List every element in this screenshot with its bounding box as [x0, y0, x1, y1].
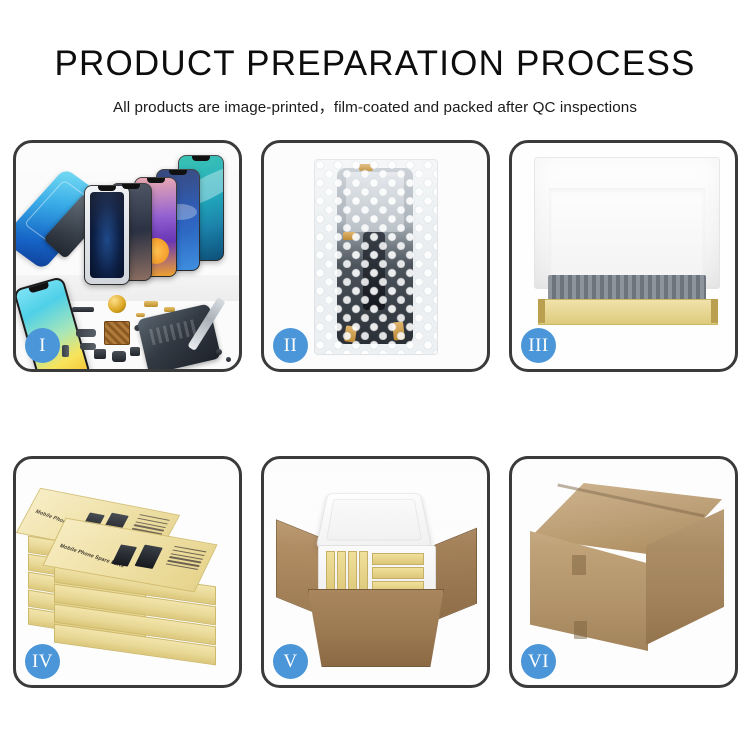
- notch-icon: [147, 178, 165, 183]
- page-subtitle: All products are image-printed，film-coat…: [0, 95, 750, 117]
- step-badge-1: I: [25, 328, 60, 363]
- component-module: [94, 349, 106, 359]
- process-step-6: VI: [509, 456, 738, 688]
- product-preparation-infographic: PRODUCT PREPARATION PROCESS All products…: [0, 0, 750, 750]
- component-speaker: [112, 351, 126, 362]
- notch-icon: [98, 186, 116, 191]
- notch-icon: [192, 156, 210, 161]
- header: PRODUCT PREPARATION PROCESS All products…: [0, 0, 750, 117]
- process-step-3: III: [509, 140, 738, 372]
- box-print-textblock: [164, 546, 206, 573]
- outer-carton-body: [308, 589, 444, 667]
- page-title: PRODUCT PREPARATION PROCESS: [0, 44, 750, 84]
- phone-fan-group: [82, 155, 239, 283]
- component-bar: [72, 307, 94, 312]
- component-module: [130, 347, 140, 356]
- component-screw: [216, 349, 222, 355]
- box-corner-tab: [711, 299, 718, 323]
- inner-box: [372, 567, 424, 579]
- step-badge-5: V: [273, 644, 308, 679]
- notch-icon: [122, 184, 140, 189]
- process-step-2: II: [261, 140, 490, 372]
- carton-flap-tab: [574, 621, 587, 639]
- component-flex-cable: [76, 329, 96, 337]
- notch-icon: [169, 170, 187, 175]
- step-badge-2: II: [273, 328, 308, 363]
- component-connector: [136, 313, 145, 317]
- step-badge-3: III: [521, 328, 556, 363]
- kraft-box-front: [538, 299, 718, 325]
- foam-box-lid: [315, 493, 432, 549]
- component-chip-array: [104, 321, 130, 345]
- box-print-thumbnail: [112, 544, 137, 566]
- bubble-texture: [315, 160, 437, 354]
- process-step-1: I: [13, 140, 242, 372]
- box-corner-tab: [538, 299, 545, 323]
- component-connector: [144, 301, 158, 307]
- box-print-thumbnail: [135, 545, 163, 569]
- process-step-grid: I II: [13, 140, 737, 692]
- phone-glass-panel: [84, 185, 130, 285]
- process-step-5: V: [261, 456, 490, 688]
- component-screw: [226, 357, 231, 362]
- component-sim-tray: [62, 345, 69, 357]
- white-foam-lid: [534, 157, 720, 289]
- kraft-box-stack: Mobile Phone Spare Parts Mobile: [24, 483, 238, 669]
- inner-box: [372, 553, 424, 565]
- bubble-wrap-bag: [314, 159, 438, 355]
- step-badge-6: VI: [521, 644, 556, 679]
- process-step-4: Mobile Phone Spare Parts Mobile: [13, 456, 242, 688]
- grey-bubble-insert: [548, 275, 706, 301]
- step-badge-4: IV: [25, 644, 60, 679]
- component-coil: [108, 295, 126, 313]
- carton-flap-tab: [572, 555, 586, 575]
- notch-icon: [29, 282, 50, 293]
